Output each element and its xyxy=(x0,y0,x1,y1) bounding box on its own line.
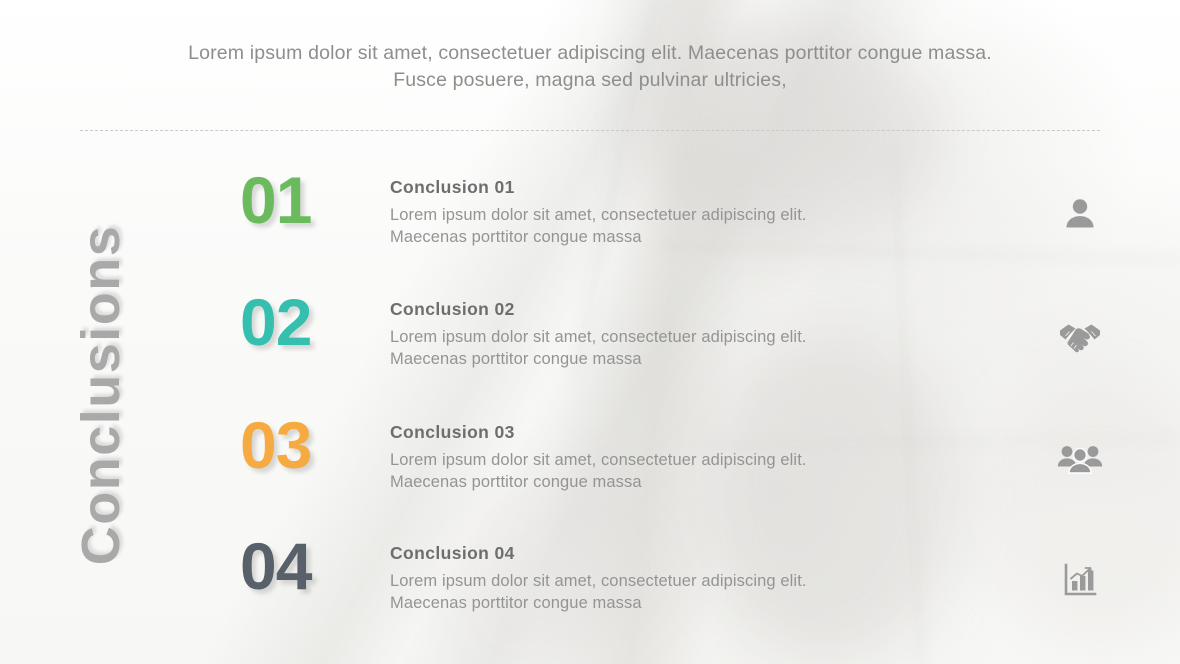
item-number-04: 04 xyxy=(240,536,390,597)
item-title: Conclusion 04 xyxy=(390,543,1040,564)
item-description: Lorem ipsum dolor sit amet, consectetuer… xyxy=(390,449,1040,493)
list-item[interactable]: 02 Conclusion 02 Lorem ipsum dolor sit a… xyxy=(240,290,1120,390)
item-description: Lorem ipsum dolor sit amet, consectetuer… xyxy=(390,204,1040,248)
bar-chart-growth-icon xyxy=(1040,540,1120,620)
item-title: Conclusion 01 xyxy=(390,177,1040,198)
list-item[interactable]: 04 Conclusion 04 Lorem ipsum dolor sit a… xyxy=(240,534,1120,634)
item-number-01: 01 xyxy=(240,170,390,231)
item-description: Lorem ipsum dolor sit amet, consectetuer… xyxy=(390,570,1040,614)
list-item[interactable]: 01 Conclusion 01 Lorem ipsum dolor sit a… xyxy=(240,168,1120,268)
item-description: Lorem ipsum dolor sit amet, consectetuer… xyxy=(390,326,1040,370)
item-content: Conclusion 02 Lorem ipsum dolor sit amet… xyxy=(390,290,1040,370)
item-number-03: 03 xyxy=(240,415,390,476)
people-group-icon xyxy=(1040,419,1120,499)
list-item[interactable]: 03 Conclusion 03 Lorem ipsum dolor sit a… xyxy=(240,413,1120,513)
item-content: Conclusion 03 Lorem ipsum dolor sit amet… xyxy=(390,413,1040,493)
item-content: Conclusion 04 Lorem ipsum dolor sit amet… xyxy=(390,534,1040,614)
item-content: Conclusion 01 Lorem ipsum dolor sit amet… xyxy=(390,168,1040,248)
item-title: Conclusion 03 xyxy=(390,422,1040,443)
conclusions-list: 01 Conclusion 01 Lorem ipsum dolor sit a… xyxy=(0,0,1180,664)
slide-canvas: Lorem ipsum dolor sit amet, consectetuer… xyxy=(0,0,1180,664)
handshake-icon xyxy=(1040,296,1120,376)
item-title: Conclusion 02 xyxy=(390,299,1040,320)
person-icon xyxy=(1040,174,1120,254)
item-number-02: 02 xyxy=(240,292,390,353)
